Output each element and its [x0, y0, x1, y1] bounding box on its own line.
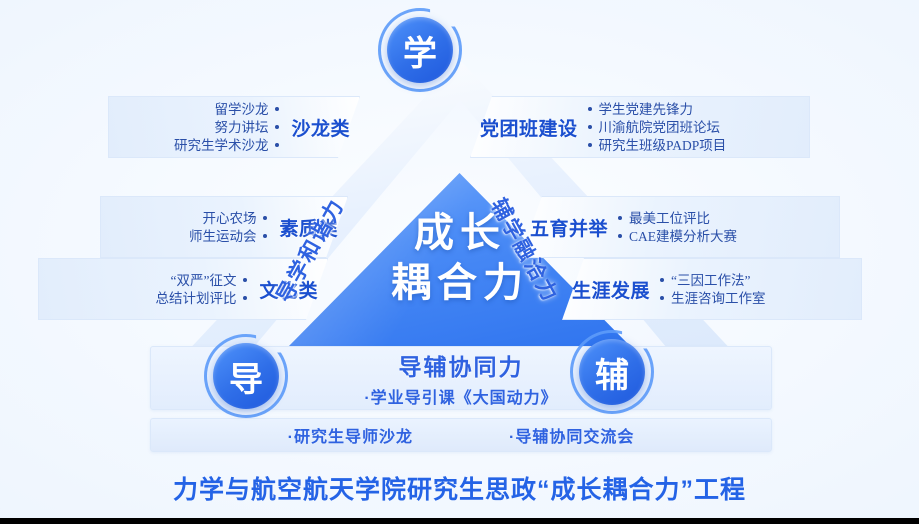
- bullet-dot-icon: [588, 107, 592, 111]
- bullet-dot-icon: [275, 107, 279, 111]
- bullet-dot-icon: [263, 216, 267, 220]
- bullet-dot-icon: [660, 278, 664, 282]
- node-circle-dao[interactable]: 导: [204, 334, 288, 418]
- bullet-dot-icon: [588, 143, 592, 147]
- list-item: 最美工位评比: [618, 210, 737, 227]
- item-text: CAE建模分析大赛: [629, 228, 737, 245]
- item-text: 最美工位评比: [629, 210, 710, 227]
- bullet-dot-icon: [275, 143, 279, 147]
- node-label: 导: [213, 343, 279, 409]
- core-line-2: 耦合力: [300, 258, 620, 308]
- list-item: 留学沙龙: [174, 101, 280, 118]
- panel-item-list: 留学沙龙 努力讲坛 研究生学术沙龙: [174, 101, 280, 154]
- panel-item-list: “三因工作法” 生涯咨询工作室: [660, 272, 766, 307]
- list-item: 研究生学术沙龙: [174, 137, 280, 154]
- panel-category-title: 沙龙类: [291, 114, 350, 141]
- panel-item-list: “双严”征文 总结计划评比: [155, 272, 247, 307]
- item-text: 川渝航院党团班论坛: [599, 119, 721, 136]
- bottom-primary-item: ·学业导引课《大国动力》: [364, 384, 557, 408]
- item-text: 学生党建先锋力: [599, 101, 694, 118]
- panel-category-title: 党团班建设: [480, 114, 578, 141]
- panel-item-list: 学生党建先锋力 川渝航院党团班论坛 研究生班级PADP项目: [588, 101, 727, 154]
- footer-title: 力学与航空航天学院研究生思政“成长耦合力”工程: [0, 470, 919, 506]
- item-text: 师生运动会: [189, 228, 257, 245]
- list-item: 川渝航院党团班论坛: [588, 119, 727, 136]
- bullet-dot-icon: [588, 125, 592, 129]
- panel-right-party-construction[interactable]: 党团班建设 学生党建先锋力 川渝航院党团班论坛 研究生班级PADP项目: [470, 96, 810, 158]
- panel-item-list: 开心农场 师生运动会: [189, 210, 268, 245]
- item-text: 研究生班级PADP项目: [599, 137, 727, 154]
- list-item: “三因工作法”: [660, 272, 766, 289]
- bullet-dot-icon: [243, 278, 247, 282]
- core-line-1: 成长: [300, 208, 620, 258]
- bullet-dot-icon: [275, 125, 279, 129]
- node-circle-xue[interactable]: 学: [378, 8, 462, 92]
- infographic-canvas: 成长 耦合力 导学和谐力 辅学融洽力 留学沙龙 努力讲坛 研究生学术沙龙 沙龙类…: [0, 0, 919, 524]
- node-label: 辅: [579, 339, 645, 405]
- item-text: 总结计划评比: [155, 290, 236, 307]
- bullet-dot-icon: [263, 234, 267, 238]
- bottom-band-secondary[interactable]: ·研究生导师沙龙 ·导辅协同交流会: [150, 418, 772, 452]
- list-item: 学生党建先锋力: [588, 101, 727, 118]
- item-text: “三因工作法”: [671, 272, 750, 289]
- node-circle-fu[interactable]: 辅: [570, 330, 654, 414]
- item-text: 努力讲坛: [214, 119, 268, 136]
- list-item: 研究生班级PADP项目: [588, 137, 727, 154]
- list-item: 努力讲坛: [174, 119, 280, 136]
- list-item: 师生运动会: [189, 228, 268, 245]
- bottom-band-title: 导辅协同力: [399, 348, 524, 382]
- list-item: 开心农场: [189, 210, 268, 227]
- panel-item-list: 最美工位评比 CAE建模分析大赛: [618, 210, 737, 245]
- bullet-dot-icon: [660, 296, 664, 300]
- panel-left-salon[interactable]: 留学沙龙 努力讲坛 研究生学术沙龙 沙龙类: [108, 96, 360, 158]
- bullet-dot-icon: [243, 296, 247, 300]
- bottom-item: ·导辅协同交流会: [509, 423, 634, 447]
- list-item: 总结计划评比: [155, 290, 247, 307]
- item-text: “双严”征文: [171, 272, 237, 289]
- list-item: “双严”征文: [155, 272, 247, 289]
- bottom-edge-strip: [0, 518, 919, 524]
- list-item: 生涯咨询工作室: [660, 290, 766, 307]
- item-text: 生涯咨询工作室: [671, 290, 766, 307]
- list-item: CAE建模分析大赛: [618, 228, 737, 245]
- bottom-item: ·研究生导师沙龙: [288, 423, 413, 447]
- item-text: 开心农场: [202, 210, 256, 227]
- core-concept-text: 成长 耦合力: [300, 208, 620, 308]
- node-label: 学: [387, 17, 453, 83]
- item-text: 留学沙龙: [214, 101, 268, 118]
- item-text: 研究生学术沙龙: [174, 137, 269, 154]
